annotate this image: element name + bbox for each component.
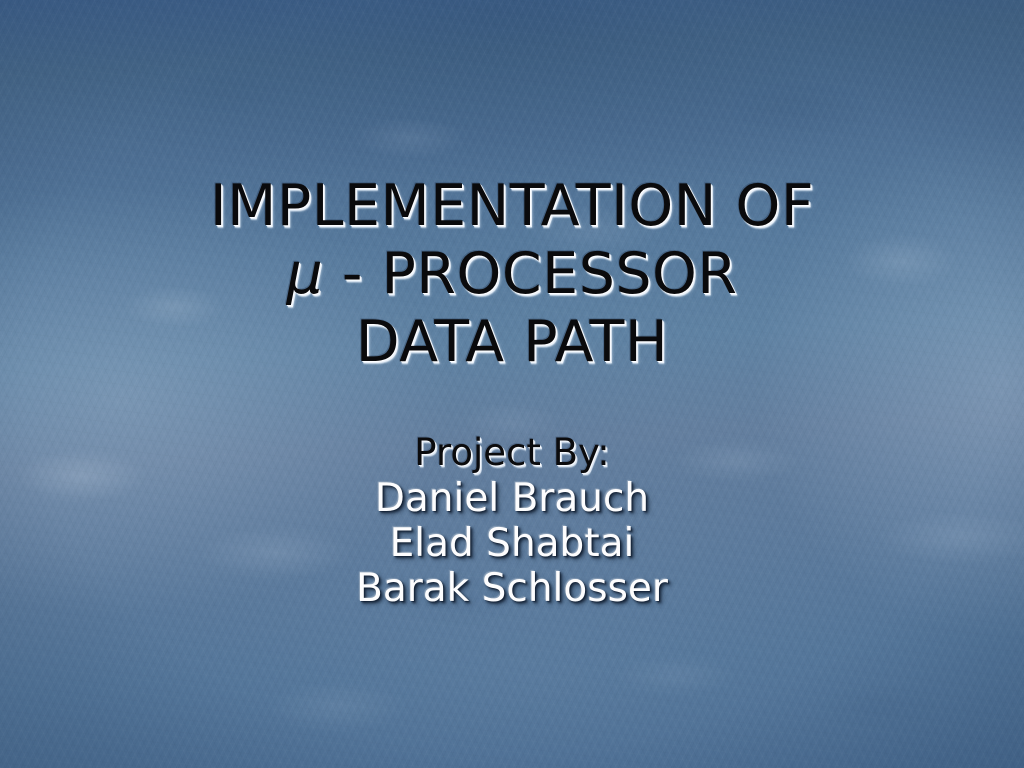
author-name-2: Elad Shabtai <box>0 521 1024 566</box>
title-line-2: µ - PROCESSOR <box>0 240 1024 308</box>
title-line-2-text: - PROCESSOR <box>323 241 737 307</box>
title-slide: IMPLEMENTATION OF µ - PROCESSOR DATA PAT… <box>0 0 1024 768</box>
slide-subtitle: Project By: Daniel Brauch Elad Shabtai B… <box>0 430 1024 611</box>
slide-title: IMPLEMENTATION OF µ - PROCESSOR DATA PAT… <box>0 172 1024 376</box>
slide-content: IMPLEMENTATION OF µ - PROCESSOR DATA PAT… <box>0 0 1024 768</box>
mu-symbol: µ <box>286 241 323 307</box>
author-name-3: Barak Schlosser <box>0 566 1024 611</box>
title-line-1: IMPLEMENTATION OF <box>0 172 1024 240</box>
byline-label: Project By: <box>0 430 1024 476</box>
title-line-3: DATA PATH <box>0 308 1024 376</box>
author-name-1: Daniel Brauch <box>0 476 1024 521</box>
